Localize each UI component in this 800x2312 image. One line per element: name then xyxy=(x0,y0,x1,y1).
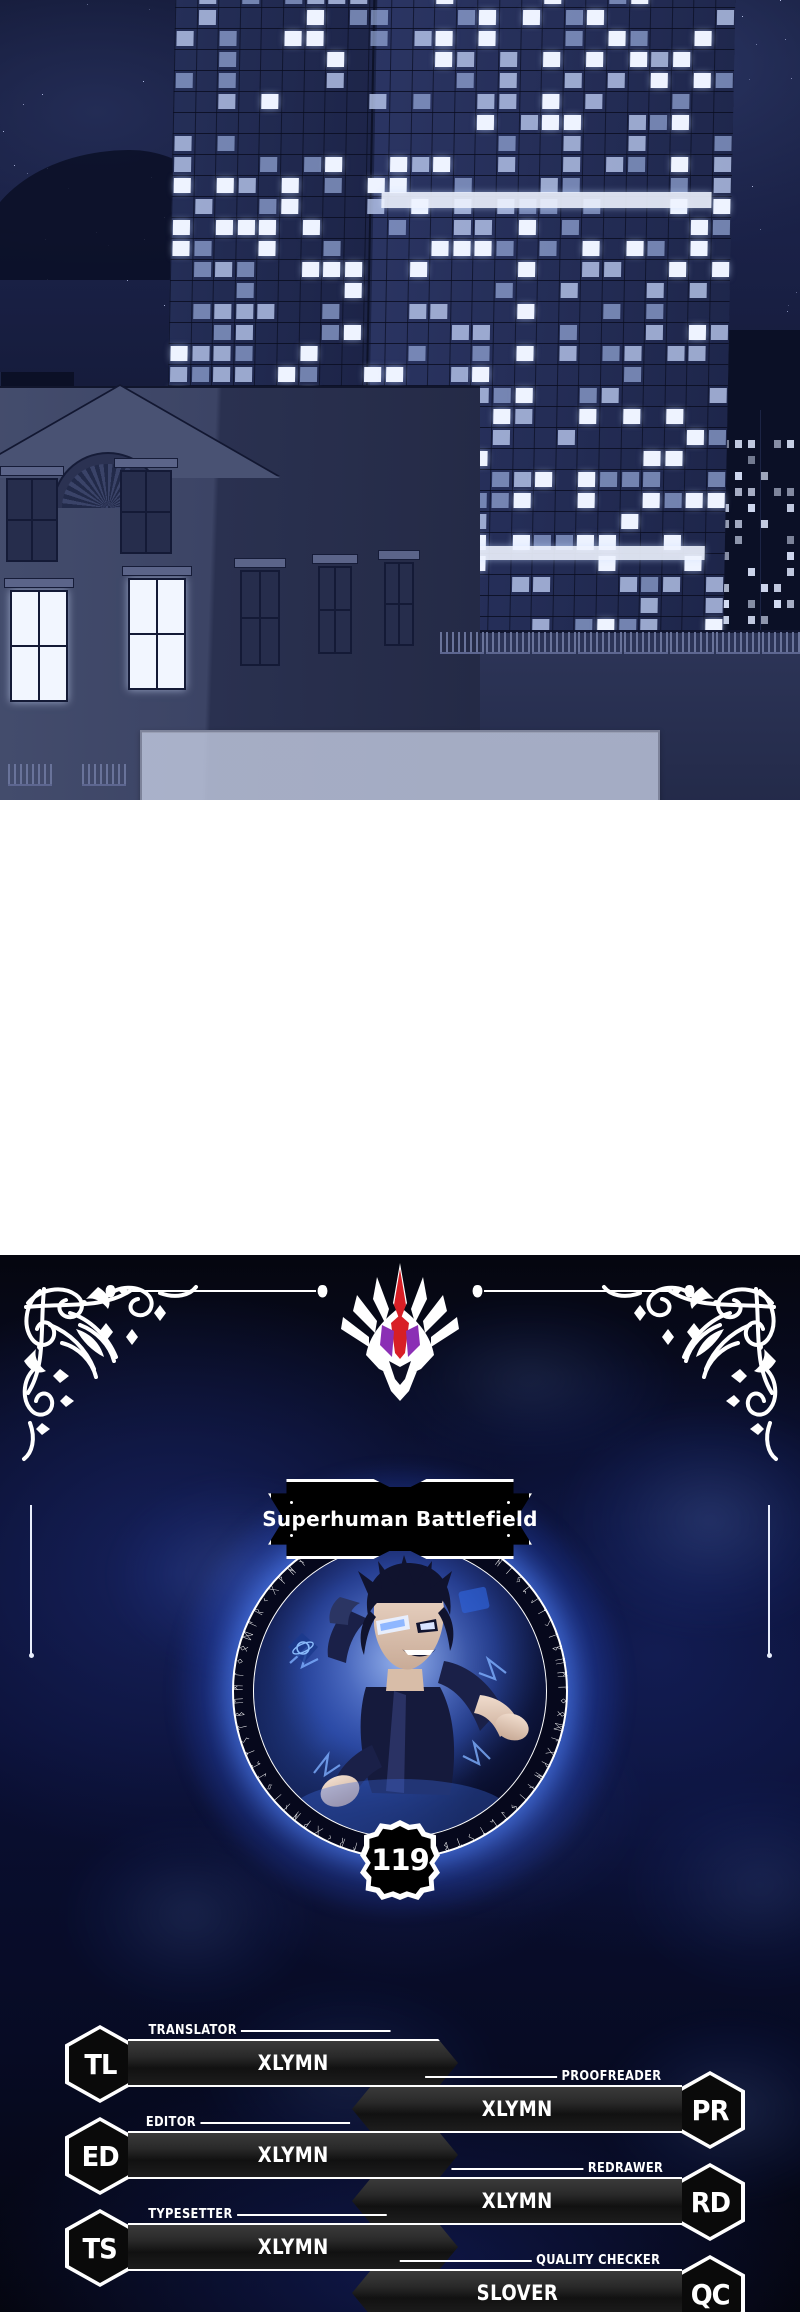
lit-window xyxy=(433,157,450,172)
star xyxy=(3,131,4,132)
window-sill xyxy=(378,550,420,560)
lit-window xyxy=(665,451,682,466)
credit-role-text: EDITOR xyxy=(146,2115,196,2130)
lit-window xyxy=(390,178,407,193)
lit-window xyxy=(194,241,211,256)
lit-window xyxy=(687,430,704,445)
distant-window xyxy=(774,600,781,608)
lit-window xyxy=(328,0,345,4)
chapter-number-badge: 119 xyxy=(360,1820,440,1900)
lit-window xyxy=(518,220,535,235)
lit-window xyxy=(435,52,452,67)
balustrade xyxy=(440,632,484,654)
lit-window xyxy=(641,577,658,592)
distant-window xyxy=(787,488,794,496)
lit-window xyxy=(515,388,532,403)
star xyxy=(127,280,128,281)
role-lead-line xyxy=(200,2122,350,2124)
lit-window xyxy=(628,157,645,172)
lit-window xyxy=(669,262,686,277)
lit-window xyxy=(413,94,430,109)
lit-window xyxy=(478,94,495,109)
lit-window xyxy=(563,136,580,151)
lit-window xyxy=(650,115,667,130)
lit-window xyxy=(325,178,342,193)
window-mullion-horizontal xyxy=(8,519,56,521)
lit-window xyxy=(626,241,643,256)
lit-window xyxy=(586,52,603,67)
lit-window xyxy=(628,136,645,151)
role-abbr-badge: QC xyxy=(675,2255,745,2312)
window-sill xyxy=(122,566,192,576)
lit-window xyxy=(176,73,193,88)
lit-window xyxy=(713,199,730,214)
lit-window xyxy=(285,0,302,4)
distant-window xyxy=(774,488,781,496)
filigree-corner-ornament-icon xyxy=(594,1273,790,1469)
lit-window xyxy=(518,262,535,277)
lit-window xyxy=(170,346,187,361)
star xyxy=(149,9,150,10)
lit-window xyxy=(195,199,212,214)
lit-window xyxy=(453,241,470,256)
lit-window xyxy=(194,262,211,277)
distant-window xyxy=(761,520,768,528)
lit-window xyxy=(716,73,733,88)
lit-window xyxy=(623,409,640,424)
lit-window xyxy=(710,388,727,403)
lit-window xyxy=(565,31,582,46)
lit-window xyxy=(284,31,301,46)
lit-window xyxy=(641,598,658,613)
lit-window xyxy=(563,157,580,172)
classical-window xyxy=(384,562,414,646)
lit-window xyxy=(172,241,189,256)
lit-window xyxy=(477,115,494,130)
star xyxy=(87,4,88,5)
star xyxy=(42,94,43,95)
lit-window xyxy=(695,31,712,46)
lit-window xyxy=(603,304,620,319)
smoke-cloud xyxy=(620,1775,800,1995)
lit-window xyxy=(475,220,492,235)
distant-window xyxy=(761,584,768,592)
lit-window xyxy=(436,0,453,4)
lit-window xyxy=(198,10,215,25)
lit-window xyxy=(602,388,619,403)
classical-window xyxy=(128,578,186,690)
lit-window xyxy=(499,94,516,109)
lit-window xyxy=(580,409,597,424)
lit-window xyxy=(691,220,708,235)
lit-window xyxy=(583,241,600,256)
credit-row: QCSLOVERQUALITY CHECKER xyxy=(0,2255,800,2312)
lit-window xyxy=(515,409,532,424)
balustrade xyxy=(532,632,576,654)
lit-window xyxy=(235,367,252,382)
lit-window xyxy=(215,262,232,277)
distant-window xyxy=(748,600,755,608)
lit-window xyxy=(604,262,621,277)
lit-window xyxy=(344,325,361,340)
lit-window xyxy=(236,283,253,298)
star xyxy=(752,186,753,187)
lit-window xyxy=(238,220,255,235)
lit-window xyxy=(630,52,647,67)
distant-window xyxy=(735,440,742,448)
lit-window xyxy=(608,73,625,88)
lit-window xyxy=(622,472,639,487)
title-text: Superhuman Battlefield xyxy=(268,1479,532,1559)
lit-window xyxy=(306,31,323,46)
lit-window xyxy=(714,136,731,151)
lit-window xyxy=(712,262,729,277)
lit-window xyxy=(500,73,517,88)
role-abbr-text: QC xyxy=(691,2278,730,2311)
lit-window xyxy=(694,73,711,88)
lit-window xyxy=(672,115,689,130)
lit-window xyxy=(473,325,490,340)
lit-window xyxy=(409,304,426,319)
lit-window xyxy=(706,598,723,613)
star xyxy=(23,104,24,105)
lit-window xyxy=(646,325,663,340)
distant-window xyxy=(787,440,794,448)
lit-window xyxy=(214,346,231,361)
lit-window xyxy=(689,346,706,361)
credit-role-label: QUALITY CHECKER xyxy=(400,2253,660,2268)
lit-window xyxy=(218,94,235,109)
lit-window xyxy=(516,346,533,361)
lit-window xyxy=(300,367,317,382)
role-lead-line xyxy=(400,2260,532,2262)
lit-window xyxy=(706,577,723,592)
lit-window xyxy=(644,451,661,466)
window-mullion-horizontal xyxy=(12,645,66,647)
credit-role-label: EDITOR xyxy=(146,2115,350,2130)
lit-window xyxy=(496,241,513,256)
lit-window xyxy=(454,220,471,235)
distant-window xyxy=(787,568,794,576)
lit-window xyxy=(472,367,489,382)
lit-window xyxy=(451,367,468,382)
lit-window xyxy=(412,157,429,172)
lit-window xyxy=(454,178,471,193)
lit-window xyxy=(714,157,731,172)
lit-window xyxy=(408,346,425,361)
star xyxy=(742,16,743,17)
lit-window xyxy=(602,346,619,361)
lit-window xyxy=(651,73,668,88)
role-abbr-badge-inner: QC xyxy=(679,2259,741,2312)
star xyxy=(796,292,797,293)
lit-window xyxy=(281,199,298,214)
balustrade xyxy=(716,632,760,654)
lit-window xyxy=(542,94,559,109)
lit-window xyxy=(520,115,537,130)
window-sill xyxy=(4,578,74,588)
lit-window xyxy=(452,325,469,340)
balustrade xyxy=(762,632,800,654)
distant-window xyxy=(774,440,781,448)
lit-window xyxy=(220,31,237,46)
distant-window xyxy=(748,456,755,464)
panel-gutter xyxy=(0,800,800,1255)
distant-window xyxy=(787,504,794,512)
lit-window xyxy=(543,52,560,67)
lit-window xyxy=(560,283,577,298)
distant-window xyxy=(735,488,742,496)
credit-name: SLOVER xyxy=(476,2281,558,2305)
lit-window xyxy=(218,136,235,151)
lit-window xyxy=(262,94,279,109)
credit-role-text: QUALITY CHECKER xyxy=(536,2253,660,2268)
lit-window xyxy=(192,346,209,361)
distant-window xyxy=(761,472,768,480)
lit-window xyxy=(260,199,277,214)
lit-window xyxy=(236,304,253,319)
lit-window xyxy=(542,115,559,130)
lit-window xyxy=(671,157,688,172)
window-sill xyxy=(0,466,64,476)
window-sill xyxy=(114,458,178,468)
right-side-rail xyxy=(768,1505,770,1655)
lit-window xyxy=(711,325,728,340)
lit-window xyxy=(673,52,690,67)
lit-window xyxy=(324,241,341,256)
role-lead-line xyxy=(452,2168,584,2170)
star xyxy=(27,173,28,174)
lit-window xyxy=(214,304,231,319)
lit-window xyxy=(192,367,209,382)
lit-window xyxy=(242,0,259,4)
distant-window xyxy=(735,536,742,544)
lit-window xyxy=(410,262,427,277)
lit-window xyxy=(558,430,575,445)
lit-window xyxy=(514,472,531,487)
lit-window xyxy=(600,472,617,487)
star xyxy=(164,305,165,306)
lit-window xyxy=(389,220,406,235)
credit-role-label: PROOFREADER xyxy=(426,2069,662,2084)
lit-window xyxy=(344,283,361,298)
lit-window xyxy=(708,493,725,508)
lit-window xyxy=(708,472,725,487)
credits-panel: ᚷᛗᛞᛒᚨᚱᚲᚾᚺᛁᛃᛈᛇᛉᛊᛏᛒᛖᛗᛚᛜᛟᛞᚨᚷᚹᚻᚾᛁᛃᛇᛈᛉᛊᛏᛒᛖᛗᛚᛝ… xyxy=(0,1255,800,2312)
classical-window xyxy=(6,478,58,562)
star xyxy=(780,0,781,1)
lit-window xyxy=(307,0,324,4)
lit-window xyxy=(512,577,529,592)
lit-window xyxy=(173,220,190,235)
window-mullion-horizontal xyxy=(386,603,412,605)
left-side-rail xyxy=(30,1505,32,1655)
lit-window xyxy=(582,262,599,277)
lit-window xyxy=(473,346,490,361)
lit-window xyxy=(517,304,534,319)
lit-window xyxy=(322,325,339,340)
star xyxy=(756,44,757,45)
lit-window xyxy=(213,367,230,382)
lit-window xyxy=(278,367,295,382)
lit-window xyxy=(643,472,660,487)
window-sill xyxy=(234,558,286,568)
lit-window xyxy=(456,73,473,88)
lit-window xyxy=(666,409,683,424)
lit-window xyxy=(219,73,236,88)
window-mullion-horizontal xyxy=(130,633,184,635)
lit-window xyxy=(304,157,321,172)
divider-cap-icon xyxy=(316,1285,329,1298)
lit-floor-band xyxy=(381,192,711,208)
lit-window xyxy=(259,241,276,256)
star xyxy=(787,311,788,312)
lit-window xyxy=(709,430,726,445)
distant-window xyxy=(735,520,742,528)
lit-window xyxy=(492,472,509,487)
lit-window xyxy=(628,115,645,130)
lit-window xyxy=(327,52,344,67)
lit-window xyxy=(496,283,513,298)
lit-window xyxy=(323,262,340,277)
lit-window xyxy=(235,346,252,361)
window-mullion-horizontal xyxy=(122,511,170,513)
lit-window xyxy=(457,52,474,67)
lit-window xyxy=(608,31,625,46)
lit-window xyxy=(364,367,381,382)
credit-role-text: REDRAWER xyxy=(588,2161,663,2176)
lit-window xyxy=(345,262,362,277)
lit-window xyxy=(199,0,216,4)
balustrade xyxy=(624,632,668,654)
balustrade xyxy=(486,632,530,654)
classical-window xyxy=(240,570,280,666)
lit-window xyxy=(260,157,277,172)
lit-window xyxy=(174,178,191,193)
lit-window xyxy=(174,157,191,172)
lit-window xyxy=(540,241,557,256)
lit-window xyxy=(498,157,515,172)
right-rail-dot xyxy=(767,1653,772,1658)
lit-window xyxy=(302,262,319,277)
distant-window xyxy=(748,488,755,496)
lit-window xyxy=(624,346,641,361)
lit-window xyxy=(170,367,187,382)
lit-window xyxy=(714,178,731,193)
distant-window xyxy=(787,552,794,560)
lit-window xyxy=(630,31,647,46)
lit-window xyxy=(648,241,665,256)
lit-window xyxy=(562,220,579,235)
lit-window xyxy=(580,388,597,403)
chapter-number: 119 xyxy=(371,1843,429,1877)
lit-window xyxy=(578,493,595,508)
lit-window xyxy=(560,325,577,340)
lit-window xyxy=(624,367,641,382)
lit-window xyxy=(386,367,403,382)
classical-window xyxy=(10,590,68,702)
distant-window xyxy=(774,584,781,592)
lit-window xyxy=(479,31,496,46)
distant-window xyxy=(748,616,755,624)
lit-window xyxy=(193,304,210,319)
lit-window xyxy=(500,52,517,67)
lit-window xyxy=(430,304,447,319)
lit-window xyxy=(370,94,387,109)
lit-window xyxy=(609,0,626,4)
distant-window xyxy=(787,536,794,544)
left-rail-dot xyxy=(29,1653,34,1658)
lit-window xyxy=(535,472,552,487)
lit-window xyxy=(544,0,561,4)
lit-window xyxy=(306,10,323,25)
role-lead-line xyxy=(237,2214,387,2216)
role-lead-line xyxy=(241,2030,391,2032)
star xyxy=(760,229,761,230)
distant-window xyxy=(761,616,768,624)
distant-window xyxy=(748,568,755,576)
lit-window xyxy=(494,388,511,403)
window-sill xyxy=(312,554,358,564)
lit-window xyxy=(713,220,730,235)
lit-window xyxy=(258,304,275,319)
lit-window xyxy=(219,52,236,67)
lit-window xyxy=(475,241,492,256)
lit-window xyxy=(414,31,431,46)
lit-window xyxy=(621,514,638,529)
lit-window xyxy=(282,178,299,193)
lit-window xyxy=(586,94,603,109)
balustrade xyxy=(8,764,52,786)
lit-window xyxy=(513,493,530,508)
lit-window xyxy=(620,577,637,592)
star xyxy=(143,81,144,82)
lit-window xyxy=(236,325,253,340)
lit-window xyxy=(436,31,453,46)
night-cityscape-panel xyxy=(0,0,800,800)
lit-window xyxy=(498,136,515,151)
lit-window xyxy=(670,178,687,193)
lit-window xyxy=(651,52,668,67)
window-mullion-horizontal xyxy=(242,617,278,619)
lit-window xyxy=(176,31,193,46)
lit-window xyxy=(300,346,317,361)
lit-window xyxy=(689,325,706,340)
credit-role-label: TYPESETTER xyxy=(148,2207,386,2222)
lit-window xyxy=(492,493,509,508)
lit-window xyxy=(646,304,663,319)
lit-window xyxy=(663,577,680,592)
credit-role-label: TRANSLATOR xyxy=(149,2023,391,2038)
lit-window xyxy=(214,325,231,340)
distant-window xyxy=(787,600,794,608)
classical-window xyxy=(120,470,172,554)
credit-role-text: TRANSLATOR xyxy=(149,2023,237,2038)
lit-window xyxy=(350,0,367,4)
lit-window xyxy=(322,304,339,319)
credits-list: TLXLYMNTRANSLATORPRXLYMNPROOFREADEREDXLY… xyxy=(0,2025,800,2312)
star xyxy=(749,79,750,80)
lit-window xyxy=(564,115,581,130)
lit-window xyxy=(717,10,734,25)
lit-window xyxy=(562,178,579,193)
balustrade xyxy=(670,632,714,654)
lit-window xyxy=(643,493,660,508)
lit-window xyxy=(672,94,689,109)
role-lead-line xyxy=(426,2076,558,2078)
lit-window xyxy=(691,241,708,256)
lit-window xyxy=(238,178,255,193)
